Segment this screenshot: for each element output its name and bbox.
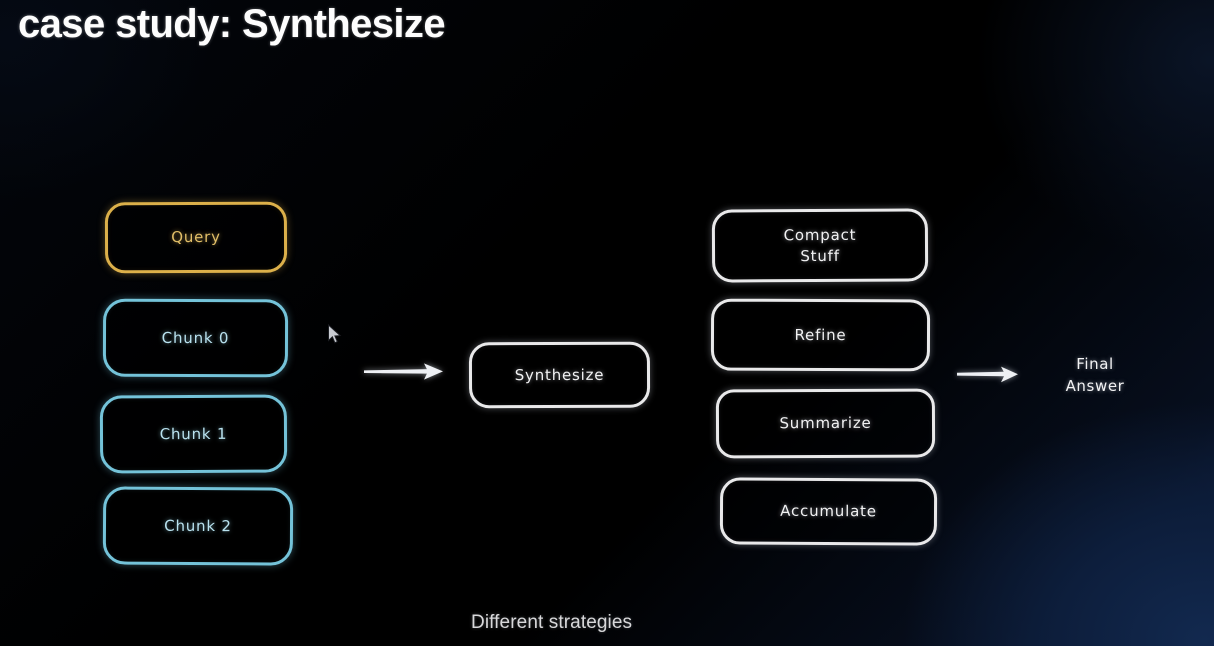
chunk-0-box[interactable]: Chunk 0	[103, 299, 288, 378]
strategy-summarize-label: Summarize	[779, 413, 871, 434]
strategy-compact-stuff-box[interactable]: Compact Stuff	[712, 208, 928, 282]
chunk-1-label: Chunk 1	[160, 424, 228, 445]
query-label: Query	[171, 227, 221, 247]
final-answer-line2: Answer	[1066, 377, 1125, 395]
strategy-accumulate-box[interactable]: Accumulate	[720, 477, 937, 545]
final-answer-line1: Final	[1076, 355, 1114, 373]
strategy-compact-stuff-label: Compact Stuff	[784, 225, 857, 266]
final-answer-label: Final Answer	[1052, 354, 1138, 398]
strategy-refine-box[interactable]: Refine	[711, 299, 930, 372]
chunk-2-label: Chunk 2	[164, 516, 232, 537]
query-box[interactable]: Query	[105, 202, 287, 274]
strategy-accumulate-label: Accumulate	[780, 501, 877, 522]
arrow-inputs-to-synthesize	[364, 361, 444, 383]
chunk-0-label: Chunk 0	[162, 328, 230, 348]
strategy-compact-stuff-line1: Compact	[784, 226, 857, 244]
mouse-cursor-icon	[327, 324, 343, 346]
synthesize-box[interactable]: Synthesize	[469, 342, 650, 409]
strategy-summarize-box[interactable]: Summarize	[716, 389, 935, 459]
chunk-1-box[interactable]: Chunk 1	[100, 395, 287, 474]
chunk-2-box[interactable]: Chunk 2	[103, 486, 293, 565]
strategy-compact-stuff-line2: Stuff	[800, 246, 840, 264]
arrow-strategies-to-final-answer	[957, 364, 1019, 386]
slide-canvas: case study: Synthesize Query Chunk 0 Chu…	[0, 0, 1214, 646]
strategy-refine-label: Refine	[794, 325, 846, 345]
page-title: case study: Synthesize	[18, 2, 445, 47]
synthesize-label: Synthesize	[515, 365, 605, 386]
caption: Different strategies	[471, 612, 632, 634]
